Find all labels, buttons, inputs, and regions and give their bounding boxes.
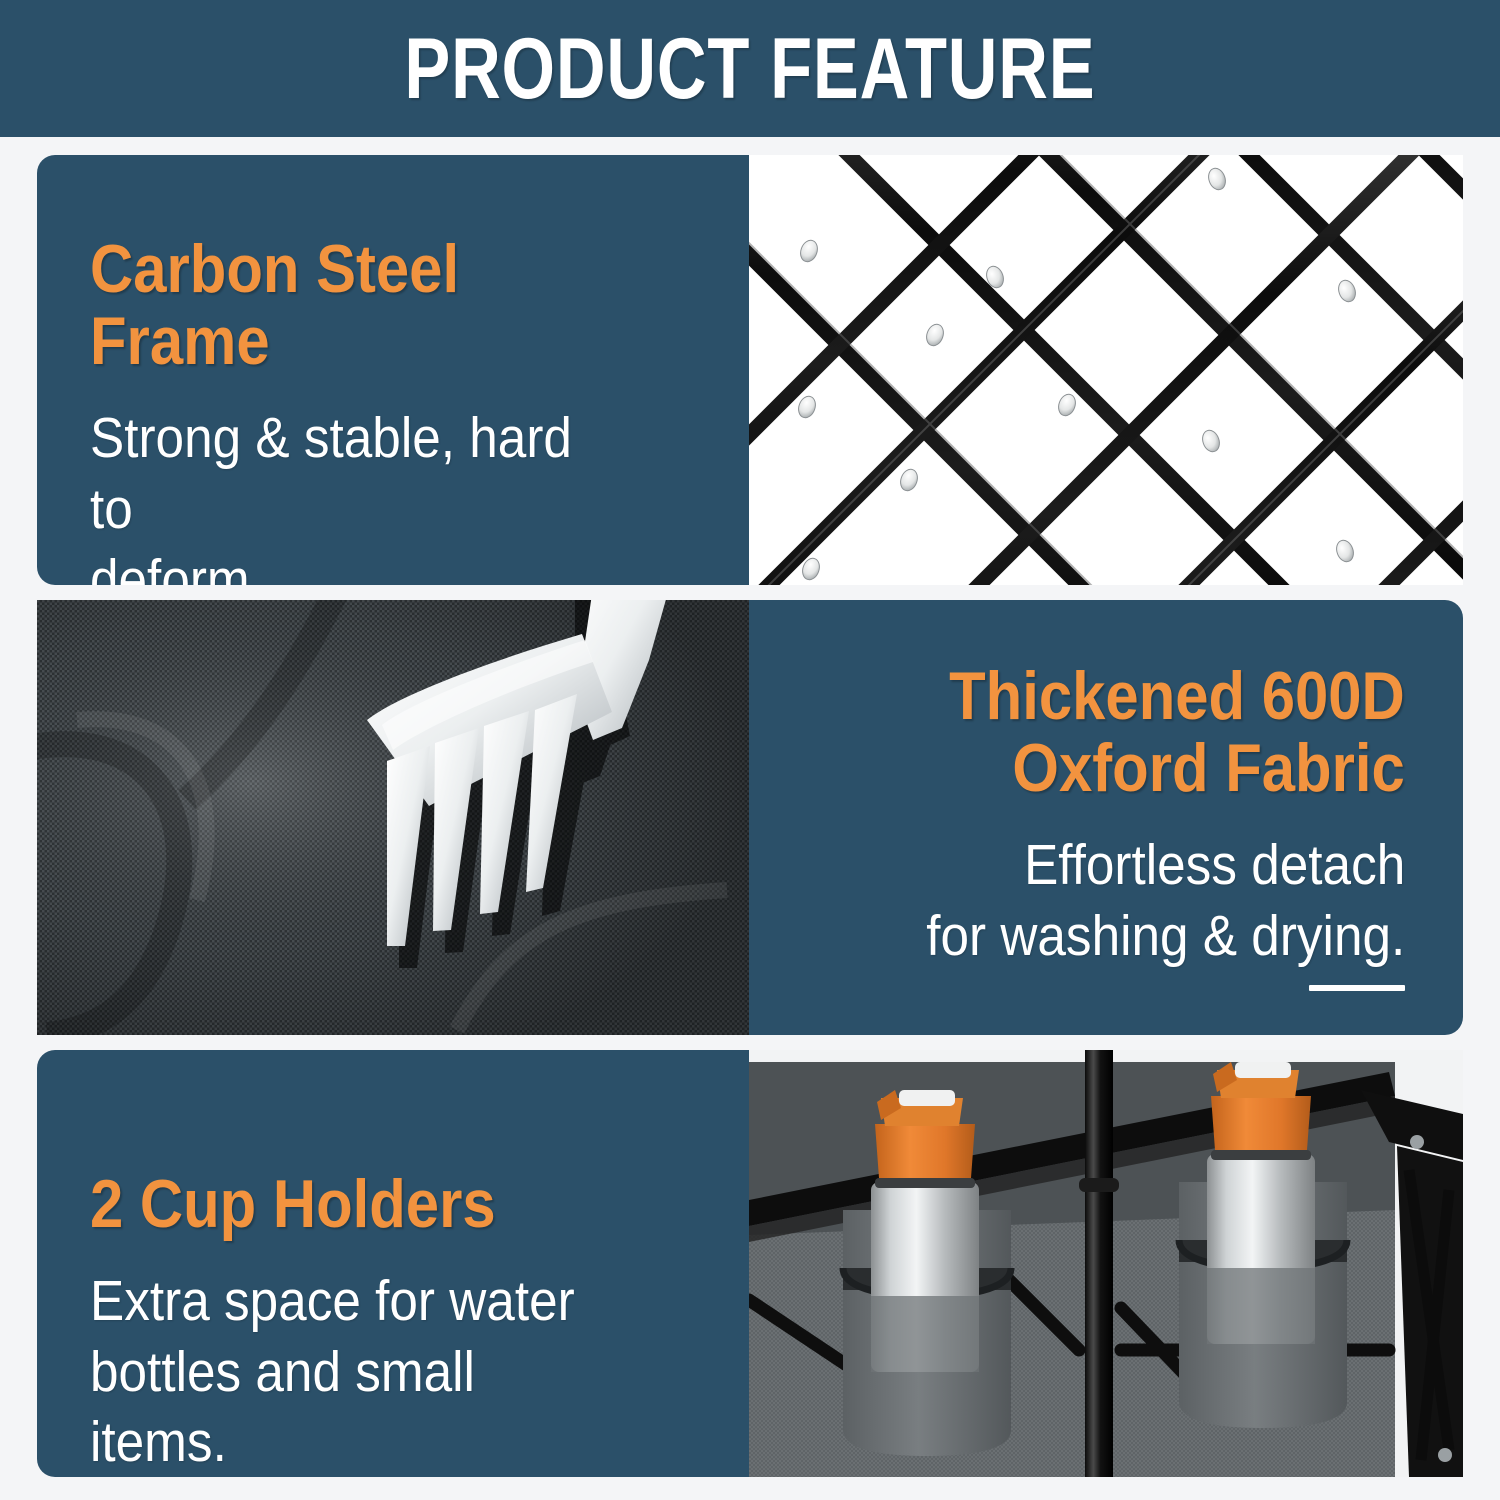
feature-row-3: 2 Cup Holders Extra space for water bott… bbox=[0, 1050, 1500, 1477]
accent-rule bbox=[1309, 985, 1405, 991]
header-banner: PRODUCT FEATURE bbox=[0, 0, 1500, 137]
feature-heading: Thickened 600D Oxford Fabric bbox=[949, 660, 1405, 804]
product-feature-infographic: PRODUCT FEATURE Carbon Steel Frame Stron… bbox=[0, 0, 1500, 1500]
feature-card-carbon-steel-frame: Carbon Steel Frame Strong & stable, hard… bbox=[37, 155, 749, 585]
steel-lattice-frame-photo bbox=[749, 155, 1463, 585]
feature-card-oxford-fabric: Thickened 600D Oxford Fabric Effortless … bbox=[749, 600, 1463, 1035]
cup-holders-photo bbox=[749, 1050, 1463, 1477]
feature-body: Extra space for water bottles and small … bbox=[90, 1266, 620, 1477]
feature-row-2: Thickened 600D Oxford Fabric Effortless … bbox=[0, 600, 1500, 1035]
feature-heading: Carbon Steel Frame bbox=[90, 233, 608, 377]
oxford-fabric-fork-photo bbox=[37, 600, 749, 1035]
feature-card-cup-holders: 2 Cup Holders Extra space for water bott… bbox=[37, 1050, 749, 1477]
feature-heading: 2 Cup Holders bbox=[90, 1168, 608, 1240]
feature-body: Effortless detach for washing & drying. bbox=[926, 830, 1405, 971]
feature-body: Strong & stable, hard to deform. bbox=[90, 403, 620, 585]
page-title: PRODUCT FEATURE bbox=[404, 26, 1095, 112]
feature-row-1: Carbon Steel Frame Strong & stable, hard… bbox=[0, 155, 1500, 585]
